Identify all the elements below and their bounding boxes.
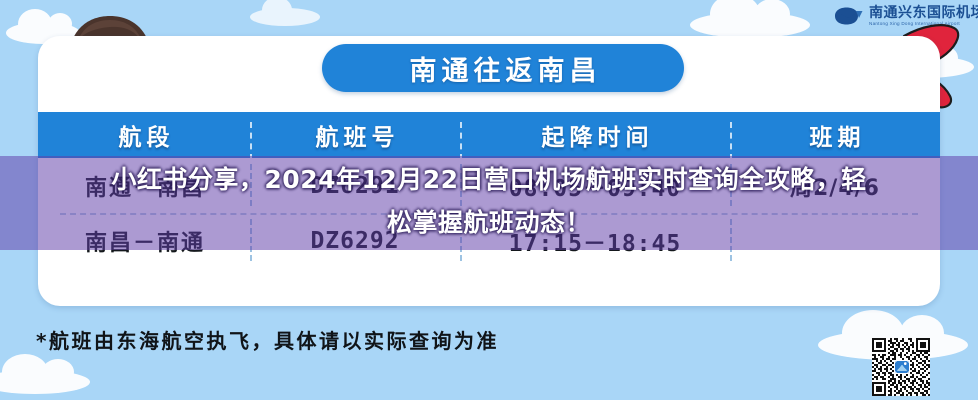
disclaimer-note: *航班由东海航空执飞，具体请以实际查询为准: [36, 325, 499, 354]
cell-segment: 南昌－南通: [38, 213, 250, 268]
column-header-flight-no: 航班号: [250, 118, 460, 152]
route-title: 南通往返南昌: [405, 49, 602, 88]
time-text: 17:15－18:45: [509, 224, 681, 258]
segment-text: 南通－南昌: [83, 170, 205, 202]
time-text: 08:05－09:40: [509, 169, 681, 203]
column-header-schedule: 班期: [730, 118, 940, 152]
table-header-row: 航段 航班号 起降时间 班期: [38, 112, 940, 158]
column-header-segment: 航段: [38, 118, 250, 152]
route-title-pill: 南通往返南昌: [322, 44, 684, 92]
qr-code-icon[interactable]: [872, 338, 930, 396]
cell-time: 08:05－09:40: [460, 158, 730, 213]
column-header-time: 起降时间: [460, 118, 730, 152]
cell-segment: 南通－南昌: [38, 158, 250, 213]
cloud-icon: [250, 8, 320, 26]
table-row: 南通－南昌 DZ6291 08:05－09:40 周2/4/6: [38, 158, 940, 213]
cell-flight-no: DZ6292: [250, 213, 460, 268]
table-row: 南昌－南通 DZ6292 17:15－18:45: [38, 213, 940, 268]
cell-time: 17:15－18:45: [460, 213, 730, 268]
cell-schedule: [730, 213, 940, 268]
cloud-icon: [0, 370, 90, 394]
cell-flight-no: DZ6291: [250, 158, 460, 213]
flight-no-text: DZ6292: [310, 228, 399, 254]
flight-no-text: DZ6291: [310, 173, 399, 199]
schedule-text: 周2/4/6: [790, 170, 880, 202]
poster-canvas: 南通兴东国际机场 Nantong Xing Dong International…: [0, 0, 978, 400]
segment-text: 南昌－南通: [83, 225, 205, 257]
cell-schedule: 周2/4/6: [730, 158, 940, 213]
flight-table: 航段 航班号 起降时间 班期 南通－南昌 DZ6291 08:05－09:40 …: [38, 112, 940, 268]
